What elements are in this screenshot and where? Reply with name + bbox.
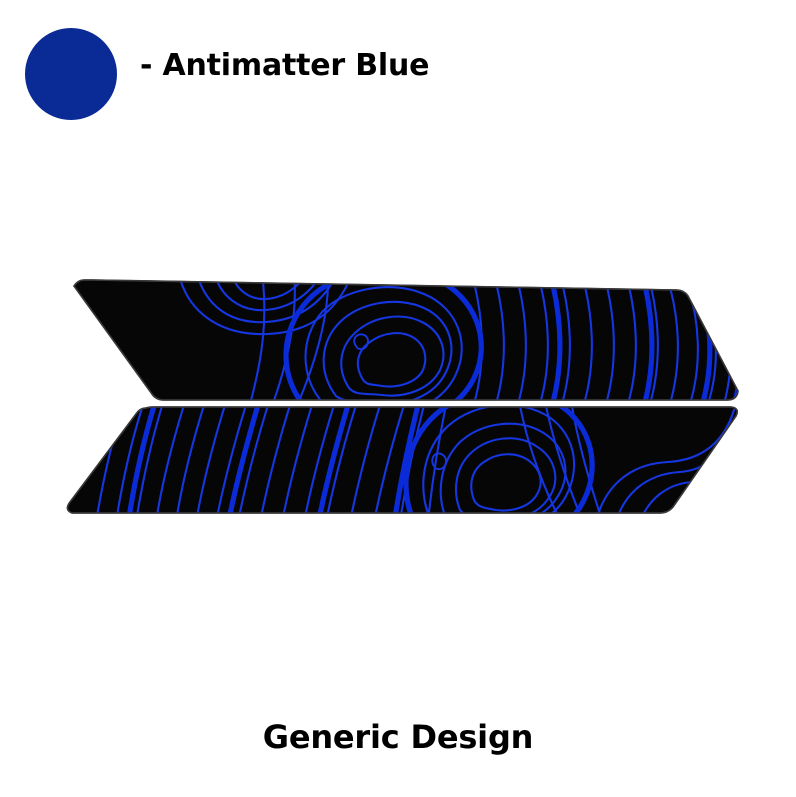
upper-panel — [74, 266, 743, 427]
color-name-label: - Antimatter Blue — [140, 48, 429, 83]
preview-canvas: - Antimatter Blue — [0, 0, 796, 797]
decal-artwork — [0, 250, 796, 540]
color-swatch-circle — [25, 28, 117, 120]
lower-panel — [67, 390, 737, 540]
design-name-label: Generic Design — [0, 718, 796, 756]
color-swatch-row: - Antimatter Blue — [0, 0, 796, 150]
upper-panel-body — [74, 280, 738, 400]
contour-artwork-svg — [0, 250, 796, 540]
